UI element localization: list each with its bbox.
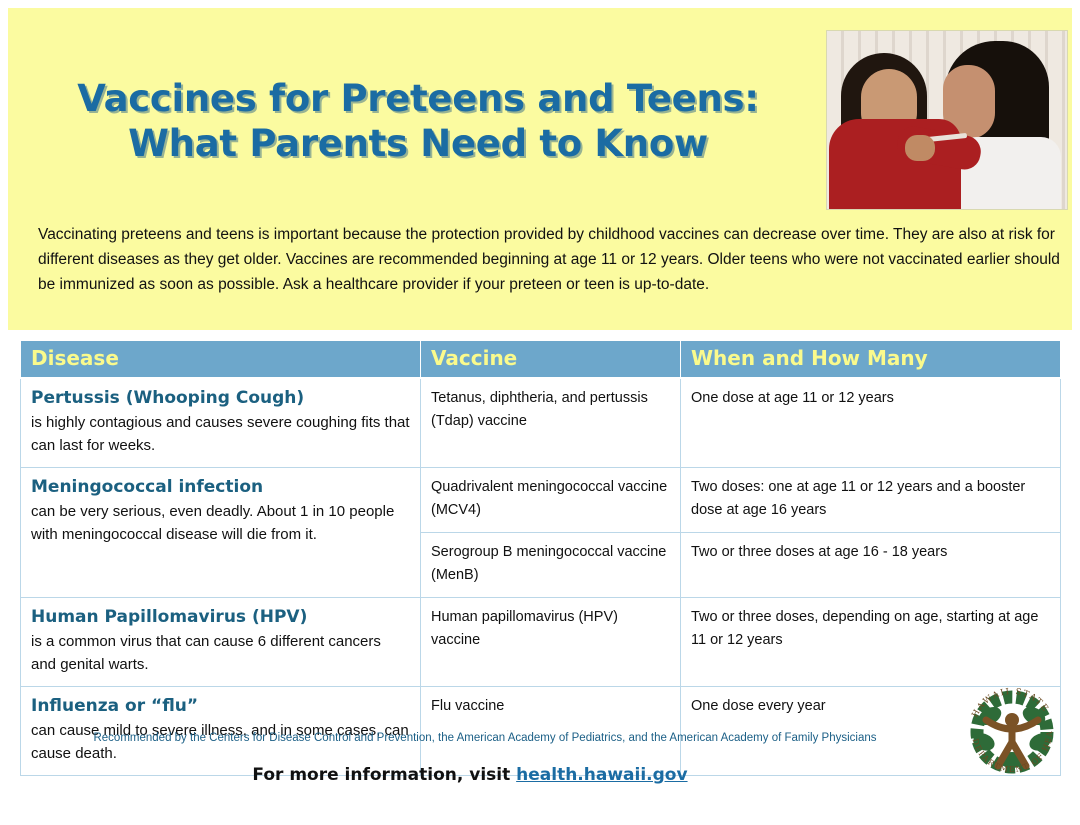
vaccine-cell: Quadrivalent meningococcal vaccine (MCV4… bbox=[421, 468, 681, 533]
when-cell: Two doses: one at age 11 or 12 years and… bbox=[681, 468, 1061, 533]
disease-name: Meningococcal infection bbox=[31, 476, 410, 499]
disease-cell: Meningococcal infection can be very seri… bbox=[21, 468, 421, 598]
photo-nurse-hand bbox=[905, 135, 935, 161]
column-header-when: When and How Many bbox=[681, 341, 1061, 379]
more-info-prefix: For more information, visit bbox=[252, 765, 516, 785]
disease-description: is highly contagious and causes severe c… bbox=[31, 411, 410, 457]
disease-description: can be very serious, even deadly. About … bbox=[31, 500, 410, 546]
poster: Vaccines for Preteens and Teens: What Pa… bbox=[0, 0, 1080, 825]
health-hawaii-gov-link[interactable]: health.hawaii.gov bbox=[516, 765, 687, 785]
when-cell: Two or three doses, depending on age, st… bbox=[681, 598, 1061, 687]
table-header-row: Disease Vaccine When and How Many bbox=[21, 341, 1061, 379]
more-info-line: For more information, visit health.hawai… bbox=[0, 765, 940, 785]
disease-cell: Influenza or “flu” can cause mild to sev… bbox=[21, 687, 421, 776]
page-title-line-2: What Parents Need to Know bbox=[38, 121, 798, 166]
vaccine-cell: Human papillomavirus (HPV) vaccine bbox=[421, 598, 681, 687]
table-row: Pertussis (Whooping Cough) is highly con… bbox=[21, 378, 1061, 468]
photo-inner bbox=[827, 31, 1067, 209]
table-row: Influenza or “flu” can cause mild to sev… bbox=[21, 687, 1061, 776]
page-title-line-1: Vaccines for Preteens and Teens: bbox=[38, 76, 798, 121]
vaccine-schedule-table: Disease Vaccine When and How Many Pertus… bbox=[20, 340, 1061, 776]
table-row: Meningococcal infection can be very seri… bbox=[21, 468, 1061, 533]
table-row: Human Papillomavirus (HPV) is a common v… bbox=[21, 598, 1061, 687]
disease-cell: Human Papillomavirus (HPV) is a common v… bbox=[21, 598, 421, 687]
disease-name: Human Papillomavirus (HPV) bbox=[31, 606, 410, 629]
page-title: Vaccines for Preteens and Teens: What Pa… bbox=[38, 76, 798, 166]
vaccination-photo bbox=[826, 30, 1068, 210]
vaccine-cell: Flu vaccine bbox=[421, 687, 681, 776]
disease-description: is a common virus that can cause 6 diffe… bbox=[31, 630, 410, 676]
vaccine-cell: Tetanus, diphtheria, and pertussis (Tdap… bbox=[421, 378, 681, 468]
vaccine-cell: Serogroup B meningococcal vaccine (MenB) bbox=[421, 533, 681, 598]
disease-cell: Pertussis (Whooping Cough) is highly con… bbox=[21, 378, 421, 468]
header-band: Vaccines for Preteens and Teens: What Pa… bbox=[8, 8, 1072, 330]
hawaii-doh-seal-icon: HAWAII STATE DEPARTMENT OF HEALTH bbox=[960, 680, 1064, 784]
when-cell: Two or three doses at age 16 - 18 years bbox=[681, 533, 1061, 598]
intro-paragraph: Vaccinating preteens and teens is import… bbox=[38, 222, 1060, 297]
disease-name: Influenza or “flu” bbox=[31, 695, 410, 718]
column-header-disease: Disease bbox=[21, 341, 421, 379]
when-cell: One dose at age 11 or 12 years bbox=[681, 378, 1061, 468]
recommendation-credit: Recommended by the Centers for Disease C… bbox=[20, 732, 950, 744]
disease-name: Pertussis (Whooping Cough) bbox=[31, 387, 410, 410]
column-header-vaccine: Vaccine bbox=[421, 341, 681, 379]
